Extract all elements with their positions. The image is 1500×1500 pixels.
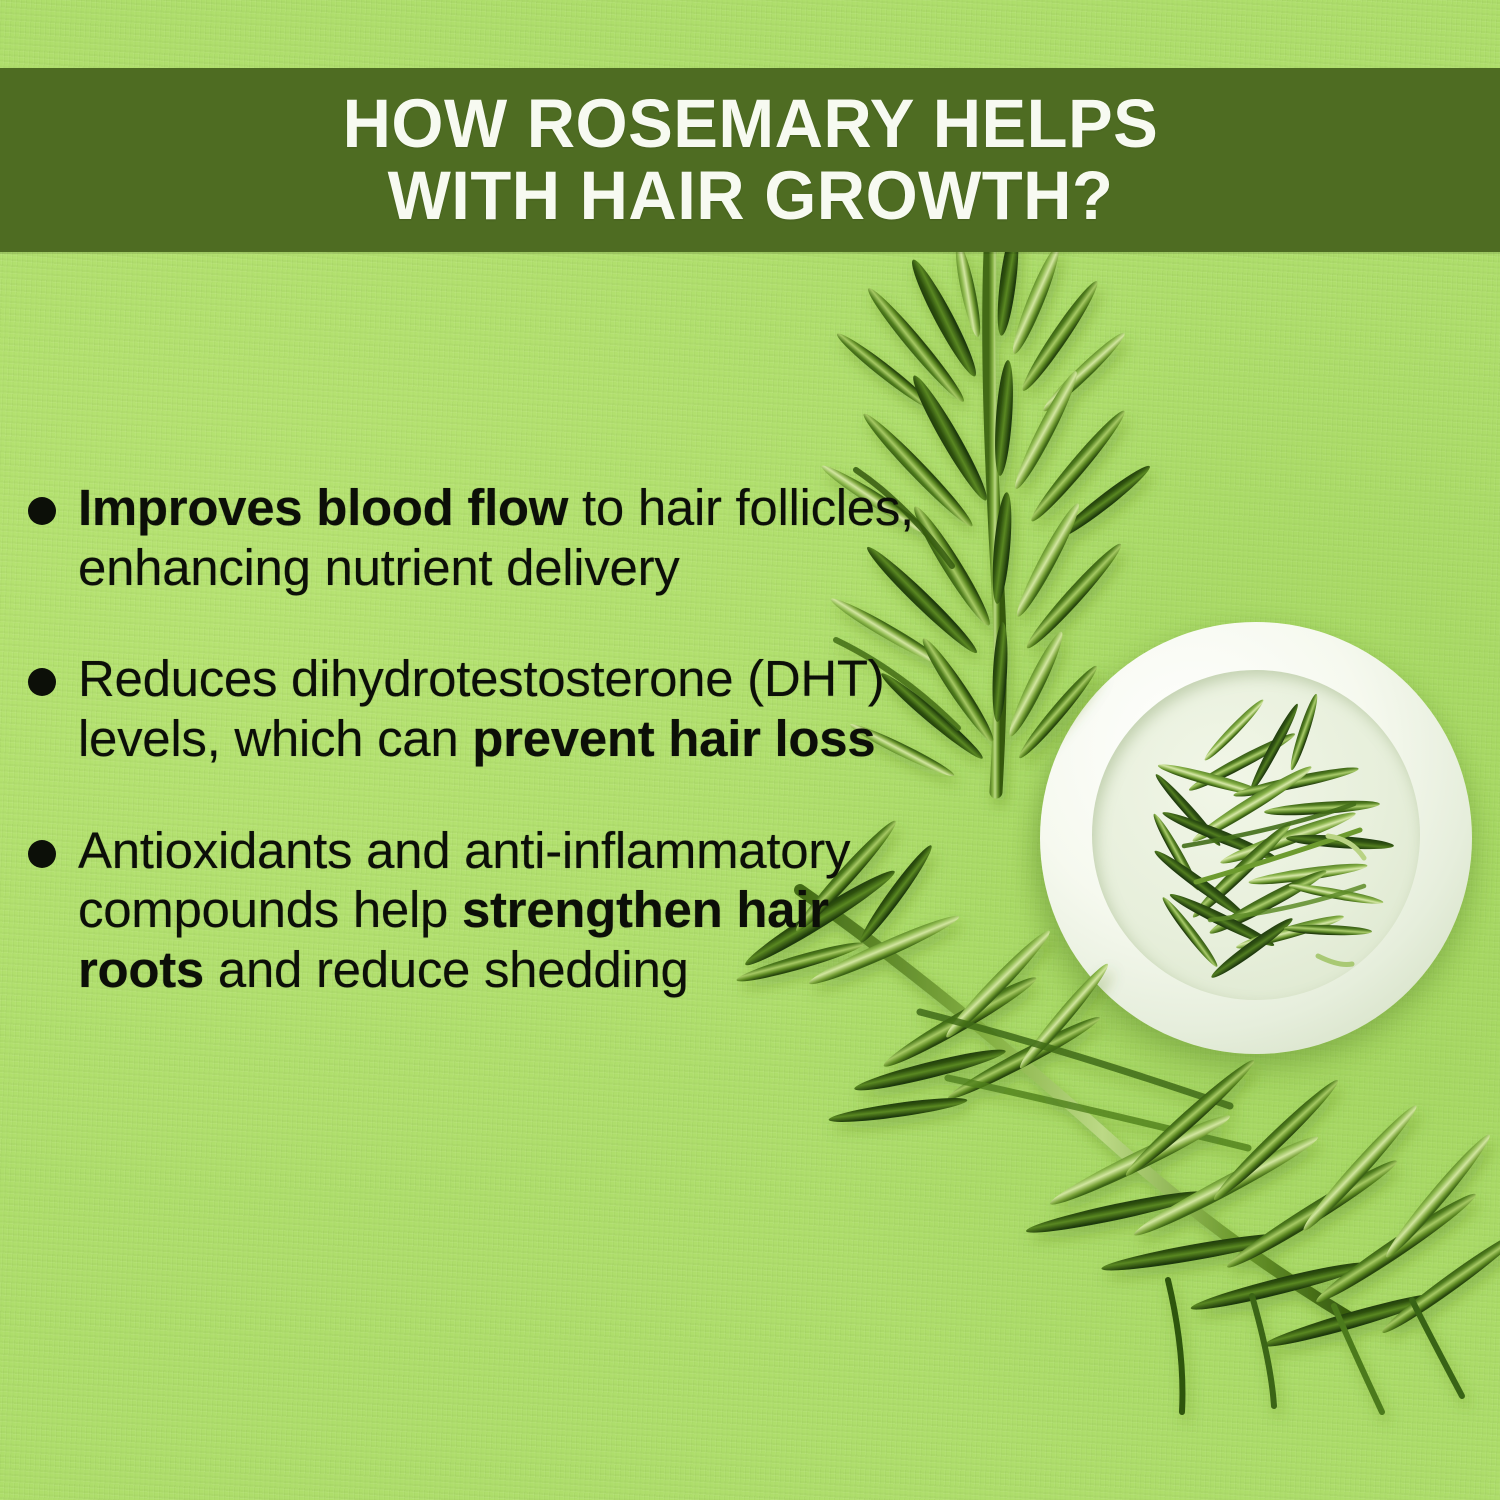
list-item-text: Reduces dihydrotestosterone (DHT) levels… [78, 649, 960, 768]
rosemary-bowl [1040, 622, 1472, 1054]
list-item-bold-2: prevent hair loss [472, 710, 875, 767]
list-item-text: Antioxidants and anti-inflammatory compo… [78, 821, 960, 1000]
bowl-needles-svg [1092, 670, 1420, 1000]
bullet-dot-icon [28, 497, 56, 525]
bowl-interior [1092, 670, 1420, 1000]
list-item: Reduces dihydrotestosterone (DHT) levels… [0, 649, 960, 768]
list-item-text: Improves blood flow to hair follicles, e… [78, 478, 960, 597]
header-banner: HOW ROSEMARY HELPS WITH HAIR GROWTH? [0, 68, 1500, 252]
page-title-line-1: HOW ROSEMARY HELPS [342, 85, 1158, 162]
benefits-list: Improves blood flow to hair follicles, e… [0, 478, 960, 1052]
page-title-line-2: WITH HAIR GROWTH? [387, 157, 1113, 234]
infographic-canvas: HOW ROSEMARY HELPS WITH HAIR GROWTH? Imp… [0, 0, 1500, 1500]
bullet-dot-icon [28, 668, 56, 696]
list-item: Improves blood flow to hair follicles, e… [0, 478, 960, 597]
list-item: Antioxidants and anti-inflammatory compo… [0, 821, 960, 1000]
page-title: HOW ROSEMARY HELPS WITH HAIR GROWTH? [303, 88, 1196, 232]
list-item-bold-1: Improves blood flow [78, 479, 568, 536]
list-item-tail-3: and reduce shedding [204, 941, 689, 998]
bullet-dot-icon [28, 840, 56, 868]
